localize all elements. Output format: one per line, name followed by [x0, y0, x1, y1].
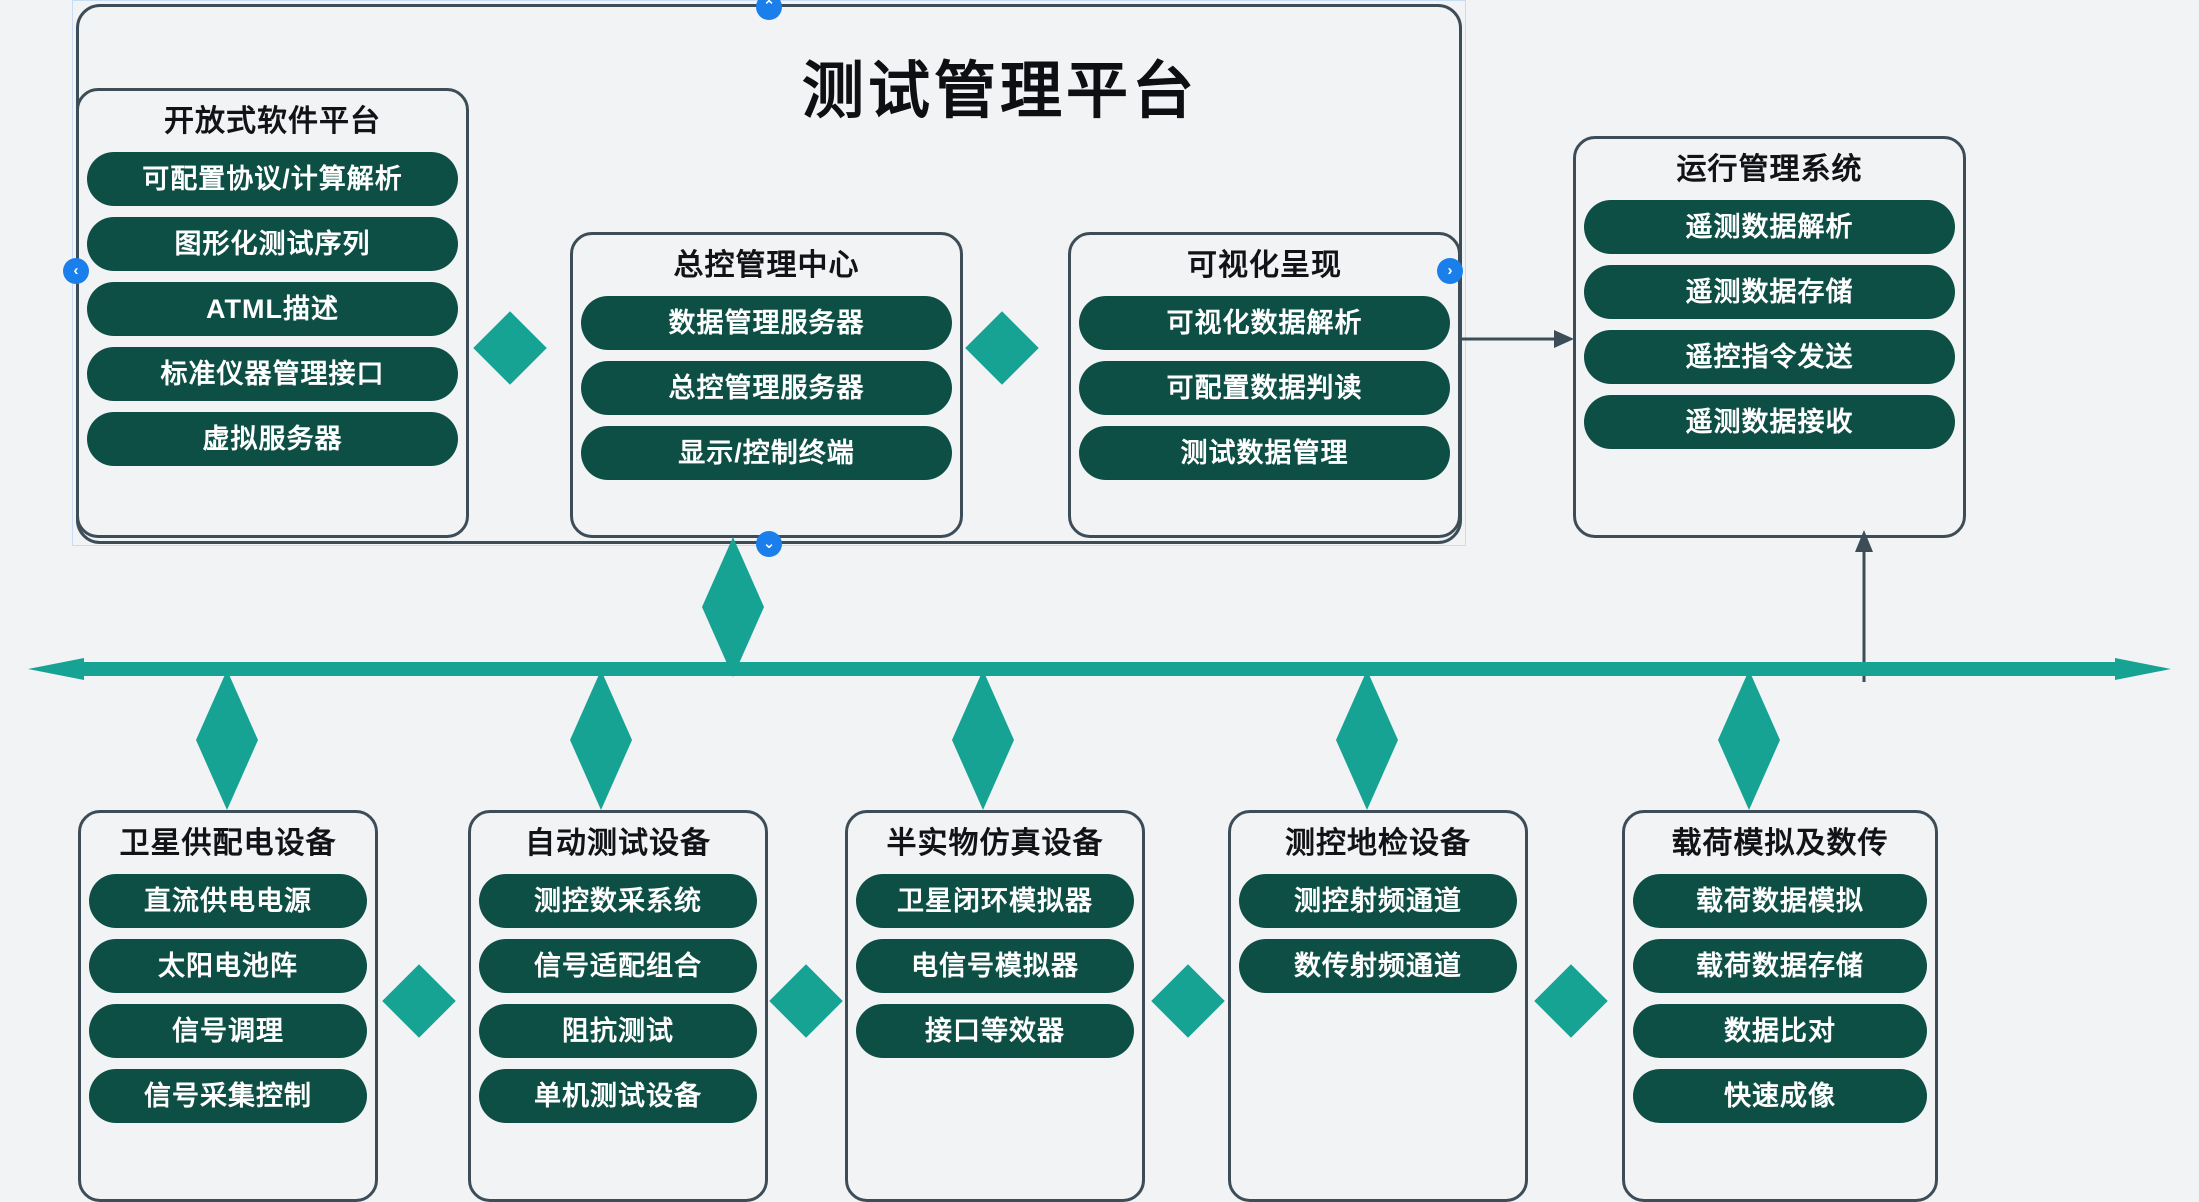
panel-visualization-title: 可视化呈现 [1071, 249, 1458, 284]
pill-item[interactable]: 阻抗测试 [479, 1004, 757, 1058]
panel-satellite-power-items: 直流供电电源 太阳电池阵 信号调理 信号采集控制 [81, 874, 375, 1123]
pill-item[interactable]: 显示/控制终端 [581, 426, 952, 480]
panel-payload-sim[interactable]: 载荷模拟及数传 载荷数据模拟 载荷数据存储 数据比对 快速成像 [1622, 810, 1938, 1202]
pill-item[interactable]: 太阳电池阵 [89, 939, 367, 993]
pill-item[interactable]: 遥测数据解析 [1584, 200, 1955, 254]
panel-hil-sim[interactable]: 半实物仿真设备 卫星闭环模拟器 电信号模拟器 接口等效器 [845, 810, 1145, 1202]
pill-item[interactable]: 测控射频通道 [1239, 874, 1517, 928]
pill-item[interactable]: 遥控指令发送 [1584, 330, 1955, 384]
panel-payload-sim-title: 载荷模拟及数传 [1625, 827, 1935, 862]
panel-auto-test-items: 测控数采系统 信号适配组合 阻抗测试 单机测试设备 [471, 874, 765, 1123]
pill-item[interactable]: 电信号模拟器 [856, 939, 1134, 993]
pill-item[interactable]: 信号适配组合 [479, 939, 757, 993]
handle-bottom-chevron-down-icon[interactable]: ⌄ [756, 531, 782, 557]
panel-open-platform[interactable]: 开放式软件平台 可配置协议/计算解析 图形化测试序列 ATML描述 标准仪器管理… [76, 88, 469, 538]
pill-item[interactable]: 测控数采系统 [479, 874, 757, 928]
pill-item[interactable]: 载荷数据模拟 [1633, 874, 1927, 928]
pill-item[interactable]: ATML描述 [87, 282, 458, 336]
connector-diamond-vertical [702, 537, 764, 677]
panel-hil-sim-items: 卫星闭环模拟器 电信号模拟器 接口等效器 [848, 874, 1142, 1058]
connector-diamond-vertical [952, 670, 1014, 810]
pill-item[interactable]: 信号调理 [89, 1004, 367, 1058]
pill-item[interactable]: 直流供电电源 [89, 874, 367, 928]
panel-visualization[interactable]: 可视化呈现 可视化数据解析 可配置数据判读 测试数据管理 [1068, 232, 1461, 538]
pill-item[interactable]: 可配置协议/计算解析 [87, 152, 458, 206]
pill-item[interactable]: 信号采集控制 [89, 1069, 367, 1123]
pill-item[interactable]: 遥测数据接收 [1584, 395, 1955, 449]
panel-ops-management-items: 遥测数据解析 遥测数据存储 遥控指令发送 遥测数据接收 [1576, 200, 1963, 449]
pill-item[interactable]: 测试数据管理 [1079, 426, 1450, 480]
pill-item[interactable]: 可视化数据解析 [1079, 296, 1450, 350]
pill-item[interactable]: 数据管理服务器 [581, 296, 952, 350]
panel-ops-management-title: 运行管理系统 [1576, 153, 1963, 188]
diagram-canvas: 测试管理平台 ⌃ ‹ › ⌄ 开放式软件平台 可配置协议/计算解析 图形化测试序… [0, 0, 2199, 1202]
connector-diamond [769, 964, 843, 1038]
connector-diamond-vertical [1718, 670, 1780, 810]
panel-auto-test-title: 自动测试设备 [471, 827, 765, 862]
connector-diamond-vertical [1336, 670, 1398, 810]
panel-open-platform-title: 开放式软件平台 [79, 105, 466, 140]
panel-control-center-title: 总控管理中心 [573, 249, 960, 284]
pill-item[interactable]: 数传射频通道 [1239, 939, 1517, 993]
pill-item[interactable]: 可配置数据判读 [1079, 361, 1450, 415]
pill-item[interactable]: 卫星闭环模拟器 [856, 874, 1134, 928]
panel-ttc-ground-items: 测控射频通道 数传射频通道 [1231, 874, 1525, 993]
connector-diamond-vertical [570, 670, 632, 810]
pill-item[interactable]: 总控管理服务器 [581, 361, 952, 415]
panel-satellite-power[interactable]: 卫星供配电设备 直流供电电源 太阳电池阵 信号调理 信号采集控制 [78, 810, 378, 1202]
connector-diamond [1151, 964, 1225, 1038]
system-bus-double-arrow [28, 658, 2171, 680]
connector-diamond [382, 964, 456, 1038]
panel-satellite-power-title: 卫星供配电设备 [81, 827, 375, 862]
arrow-to-ops-management [1462, 325, 1574, 353]
panel-ops-management[interactable]: 运行管理系统 遥测数据解析 遥测数据存储 遥控指令发送 遥测数据接收 [1573, 136, 1966, 538]
panel-auto-test[interactable]: 自动测试设备 测控数采系统 信号适配组合 阻抗测试 单机测试设备 [468, 810, 768, 1202]
pill-item[interactable]: 快速成像 [1633, 1069, 1927, 1123]
panel-visualization-items: 可视化数据解析 可配置数据判读 测试数据管理 [1071, 296, 1458, 480]
pill-item[interactable]: 数据比对 [1633, 1004, 1927, 1058]
pill-item[interactable]: 接口等效器 [856, 1004, 1134, 1058]
handle-right-chevron-right-icon[interactable]: › [1437, 258, 1463, 284]
pill-item[interactable]: 虚拟服务器 [87, 412, 458, 466]
panel-control-center-items: 数据管理服务器 总控管理服务器 显示/控制终端 [573, 296, 960, 480]
panel-payload-sim-items: 载荷数据模拟 载荷数据存储 数据比对 快速成像 [1625, 874, 1935, 1123]
pill-item[interactable]: 标准仪器管理接口 [87, 347, 458, 401]
panel-hil-sim-title: 半实物仿真设备 [848, 827, 1142, 862]
handle-left-chevron-left-icon[interactable]: ‹ [63, 258, 89, 284]
panel-ttc-ground[interactable]: 测控地检设备 测控射频通道 数传射频通道 [1228, 810, 1528, 1202]
pill-item[interactable]: 图形化测试序列 [87, 217, 458, 271]
pill-item[interactable]: 遥测数据存储 [1584, 265, 1955, 319]
panel-ttc-ground-title: 测控地检设备 [1231, 827, 1525, 862]
connector-diamond-vertical [196, 670, 258, 810]
pill-item[interactable]: 单机测试设备 [479, 1069, 757, 1123]
panel-open-platform-items: 可配置协议/计算解析 图形化测试序列 ATML描述 标准仪器管理接口 虚拟服务器 [79, 152, 466, 466]
page-title: 测试管理平台 [700, 40, 1300, 130]
pill-item[interactable]: 载荷数据存储 [1633, 939, 1927, 993]
connector-diamond [1534, 964, 1608, 1038]
panel-control-center[interactable]: 总控管理中心 数据管理服务器 总控管理服务器 显示/控制终端 [570, 232, 963, 538]
